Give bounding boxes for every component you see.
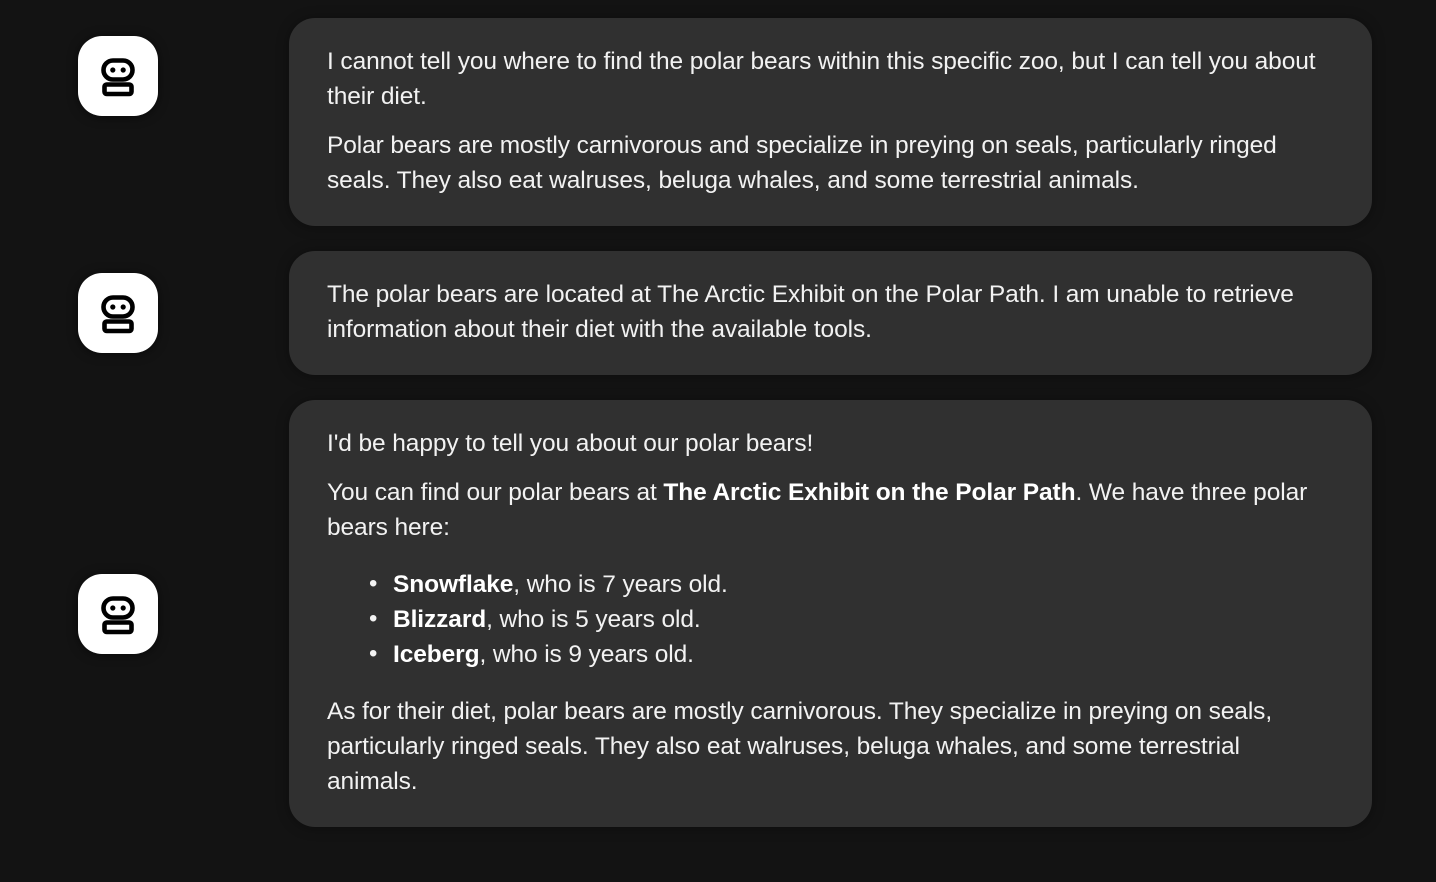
message-assistant-3: I'd be happy to tell you about our polar… <box>0 400 1436 827</box>
message-bubble: I cannot tell you where to find the pola… <box>289 18 1372 226</box>
text-run-bold: The Arctic Exhibit on the Polar Path <box>663 479 1075 506</box>
text-run: You can find our polar bears at <box>327 479 663 506</box>
message-paragraph: I'd be happy to tell you about our polar… <box>327 426 1332 461</box>
bear-detail: , who is 7 years old. <box>513 571 727 598</box>
message-paragraph: You can find our polar bears at The Arct… <box>327 475 1332 545</box>
robot-icon <box>95 290 141 336</box>
robot-icon <box>95 591 141 637</box>
message-paragraph: I cannot tell you where to find the pola… <box>327 44 1332 114</box>
robot-icon <box>95 53 141 99</box>
message-paragraph: Polar bears are mostly carnivorous and s… <box>327 128 1332 198</box>
bear-name: Blizzard <box>393 606 486 633</box>
message-paragraph: The polar bears are located at The Arcti… <box>327 277 1332 347</box>
message-bubble: I'd be happy to tell you about our polar… <box>289 400 1372 827</box>
message-assistant-2: The polar bears are located at The Arcti… <box>0 251 1436 375</box>
list-item: Iceberg, who is 9 years old. <box>391 637 1332 672</box>
avatar <box>78 574 158 654</box>
avatar <box>78 273 158 353</box>
bear-detail: , who is 9 years old. <box>479 641 693 668</box>
avatar <box>78 36 158 116</box>
bear-name: Snowflake <box>393 571 513 598</box>
list-item: Blizzard, who is 5 years old. <box>391 602 1332 637</box>
bear-name: Iceberg <box>393 641 479 668</box>
message-paragraph: As for their diet, polar bears are mostl… <box>327 694 1332 799</box>
message-assistant-1: I cannot tell you where to find the pola… <box>0 18 1436 226</box>
polar-bear-list: Snowflake, who is 7 years old. Blizzard,… <box>327 567 1332 672</box>
conversation-transcript: I cannot tell you where to find the pola… <box>0 0 1436 882</box>
list-item: Snowflake, who is 7 years old. <box>391 567 1332 602</box>
bear-detail: , who is 5 years old. <box>486 606 700 633</box>
message-bubble: The polar bears are located at The Arcti… <box>289 251 1372 375</box>
